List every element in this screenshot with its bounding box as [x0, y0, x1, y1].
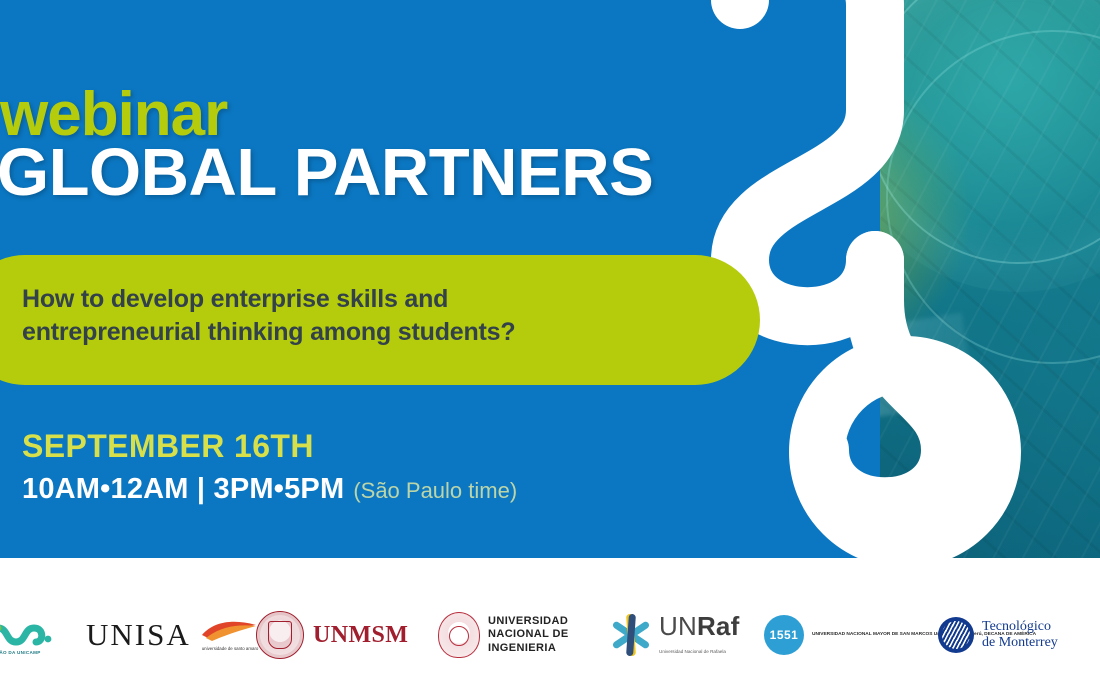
- unraf-star-icon: [610, 614, 652, 656]
- event-timezone: (São Paulo time): [353, 478, 517, 504]
- headline-line-1: How to develop enterprise skills and: [22, 283, 722, 316]
- event-time-row: 10AM•12AM | 3PM•5PM (São Paulo time): [22, 473, 517, 506]
- logo-unisa: UNISA universidade de santo amaro: [86, 606, 236, 664]
- unraf-word-light: UN: [659, 611, 697, 641]
- inova-caption: INOVAÇÃO DA UNICAMP: [0, 650, 41, 655]
- logo-unmsm-1551: 1551 UNIVERSIDAD NACIONAL MAYOR DE SAN M…: [764, 606, 924, 664]
- blue-corner-fill: [700, 0, 820, 120]
- unisa-bird-icon: universidade de santo amaro: [200, 617, 258, 653]
- uni-line-3: INGENIERIA: [488, 642, 569, 655]
- unraf-caption: Universidad Nacional de Rafaela: [659, 649, 726, 654]
- partner-logo-row: INOVAÇÃO DA UNICAMP UNISA universidade d…: [0, 604, 1100, 666]
- unisa-caption: universidade de santo amaro: [202, 646, 259, 652]
- logo-unraf: UNRaf Universidad Nacional de Rafaela: [610, 606, 750, 664]
- unraf-wordmark: UNRaf Universidad Nacional de Rafaela: [659, 613, 750, 658]
- unmsm-wordmark: UNMSM: [313, 622, 408, 649]
- unmsm-crest-icon: [256, 611, 304, 659]
- tec-monterrey-wordmark: Tecnológico de Monterrey: [982, 619, 1058, 651]
- unmsm-1551-badge: 1551: [764, 615, 804, 655]
- unraf-word-line: UNRaf: [659, 611, 739, 641]
- event-date: SEPTEMBER 16TH: [22, 428, 314, 465]
- uni-wordmark: UNIVERSIDAD NACIONAL DE INGENIERIA: [488, 615, 569, 655]
- uni-line-1: UNIVERSIDAD: [488, 615, 569, 628]
- partner-logo-strip: INOVAÇÃO DA UNICAMP UNISA universidade d…: [0, 558, 1100, 700]
- logo-uni: UNIVERSIDAD NACIONAL DE INGENIERIA: [438, 606, 588, 664]
- logo-inova-unicamp: INOVAÇÃO DA UNICAMP: [0, 606, 72, 664]
- inova-mark-icon: INOVAÇÃO DA UNICAMP: [0, 618, 64, 652]
- uni-crest-icon: [438, 612, 480, 658]
- tec-line-2: de Monterrey: [982, 635, 1058, 651]
- webinar-promo-banner: How to develop enterprise skills and ent…: [0, 0, 1100, 700]
- tec-monterrey-icon: [938, 617, 974, 653]
- page-title: GLOBAL PARTNERS: [0, 139, 653, 206]
- unraf-word-bold: Raf: [697, 611, 740, 641]
- headline-text: How to develop enterprise skills and ent…: [22, 283, 722, 349]
- unisa-wordmark: UNISA: [86, 617, 191, 653]
- uni-line-2: NACIONAL DE: [488, 628, 569, 641]
- headline-line-2: entrepreneurial thinking among students?: [22, 316, 722, 349]
- logo-unmsm: UNMSM: [256, 606, 416, 664]
- tec-line-1: Tecnológico: [982, 619, 1058, 635]
- event-times: 10AM•12AM | 3PM•5PM: [22, 473, 344, 506]
- logo-tec-monterrey: Tecnológico de Monterrey: [938, 606, 1088, 664]
